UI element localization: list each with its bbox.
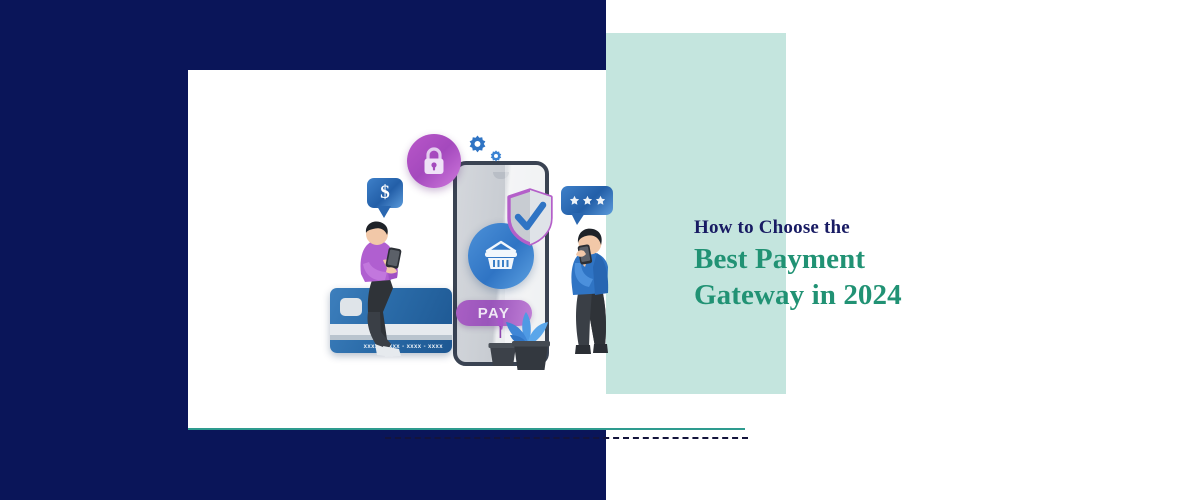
- star-icon: [595, 195, 606, 206]
- headline-block: How to Choose the Best Payment Gateway i…: [694, 216, 1164, 312]
- person-with-phone-seated: [347, 220, 417, 360]
- person-with-phone-standing: [557, 223, 625, 363]
- star-icon: [582, 195, 593, 206]
- online-payment-illustration: xxxx - xxxx - xxxx - xxxx PAY: [325, 128, 615, 373]
- lock-icon: [422, 146, 446, 176]
- rating-stars: [561, 186, 613, 215]
- potted-plants: [488, 310, 566, 372]
- gear-icon-small: [489, 150, 503, 164]
- headline-kicker: How to Choose the: [694, 216, 1164, 240]
- star-icon: [569, 195, 580, 206]
- shield-check-icon: [506, 188, 554, 246]
- page-canvas: xxxx - xxxx - xxxx - xxxx PAY: [0, 0, 1200, 500]
- gear-icon: [467, 135, 488, 156]
- headline-line-1: Best Payment: [694, 243, 1164, 276]
- dollar-symbol-icon: $: [367, 178, 403, 208]
- dashed-divider-line: [385, 437, 748, 439]
- teal-divider-line: [188, 428, 745, 430]
- headline-line-2: Gateway in 2024: [694, 279, 1164, 312]
